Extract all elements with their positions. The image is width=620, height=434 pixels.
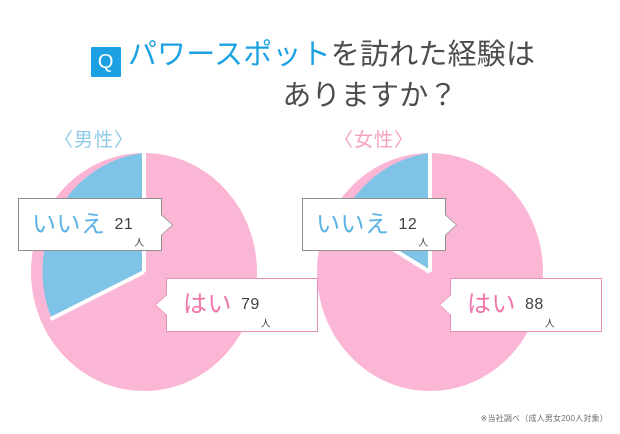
footnote: ※当社調べ（成人男女200人対象） [481,413,608,424]
callout-yes-male: はい 79 人 [166,278,318,332]
callout-no-male-unit: 人 [134,239,144,250]
title-highlight: パワースポット [128,39,331,71]
callout-yes-male-count: 79 [241,297,260,313]
callout-no-male-label: いいえ [32,213,106,237]
pie-chart-male: 〈男性〉 [8,130,308,400]
callout-no-female-label: いいえ [316,213,390,237]
callout-no-female-unit: 人 [418,239,428,250]
callout-yes-female-label: はい [467,293,516,317]
callout-yes-male-unit: 人 [261,320,271,331]
callout-no-female: いいえ 12 人 [302,198,446,251]
charts-region: 〈男性〉 〈女性〉 [0,130,620,400]
callout-no-female-count: 12 [399,217,418,233]
title-line-2: ありますか？ [0,77,620,115]
callout-no-male: いいえ 21 人 [18,198,162,251]
callout-yes-female-count: 88 [525,297,544,313]
pie-graphic-female [316,152,544,392]
callout-yes-male-label: はい [183,293,232,317]
callout-no-male-count: 21 [115,217,134,233]
title-rest: を訪れた経験は [331,39,535,71]
title-line-1: Qパワースポットを訪れた経験は [0,36,620,77]
callout-yes-female-unit: 人 [545,320,555,331]
pie-chart-female: 〈女性〉 [292,130,592,400]
gender-label-female: 〈女性〉 [334,130,414,152]
pie-graphic-male [30,152,258,392]
page-title: Qパワースポットを訪れた経験は ありますか？ [0,36,620,115]
question-badge: Q [91,47,121,77]
gender-label-male: 〈男性〉 [54,130,134,152]
callout-yes-female: はい 88 人 [450,278,602,332]
